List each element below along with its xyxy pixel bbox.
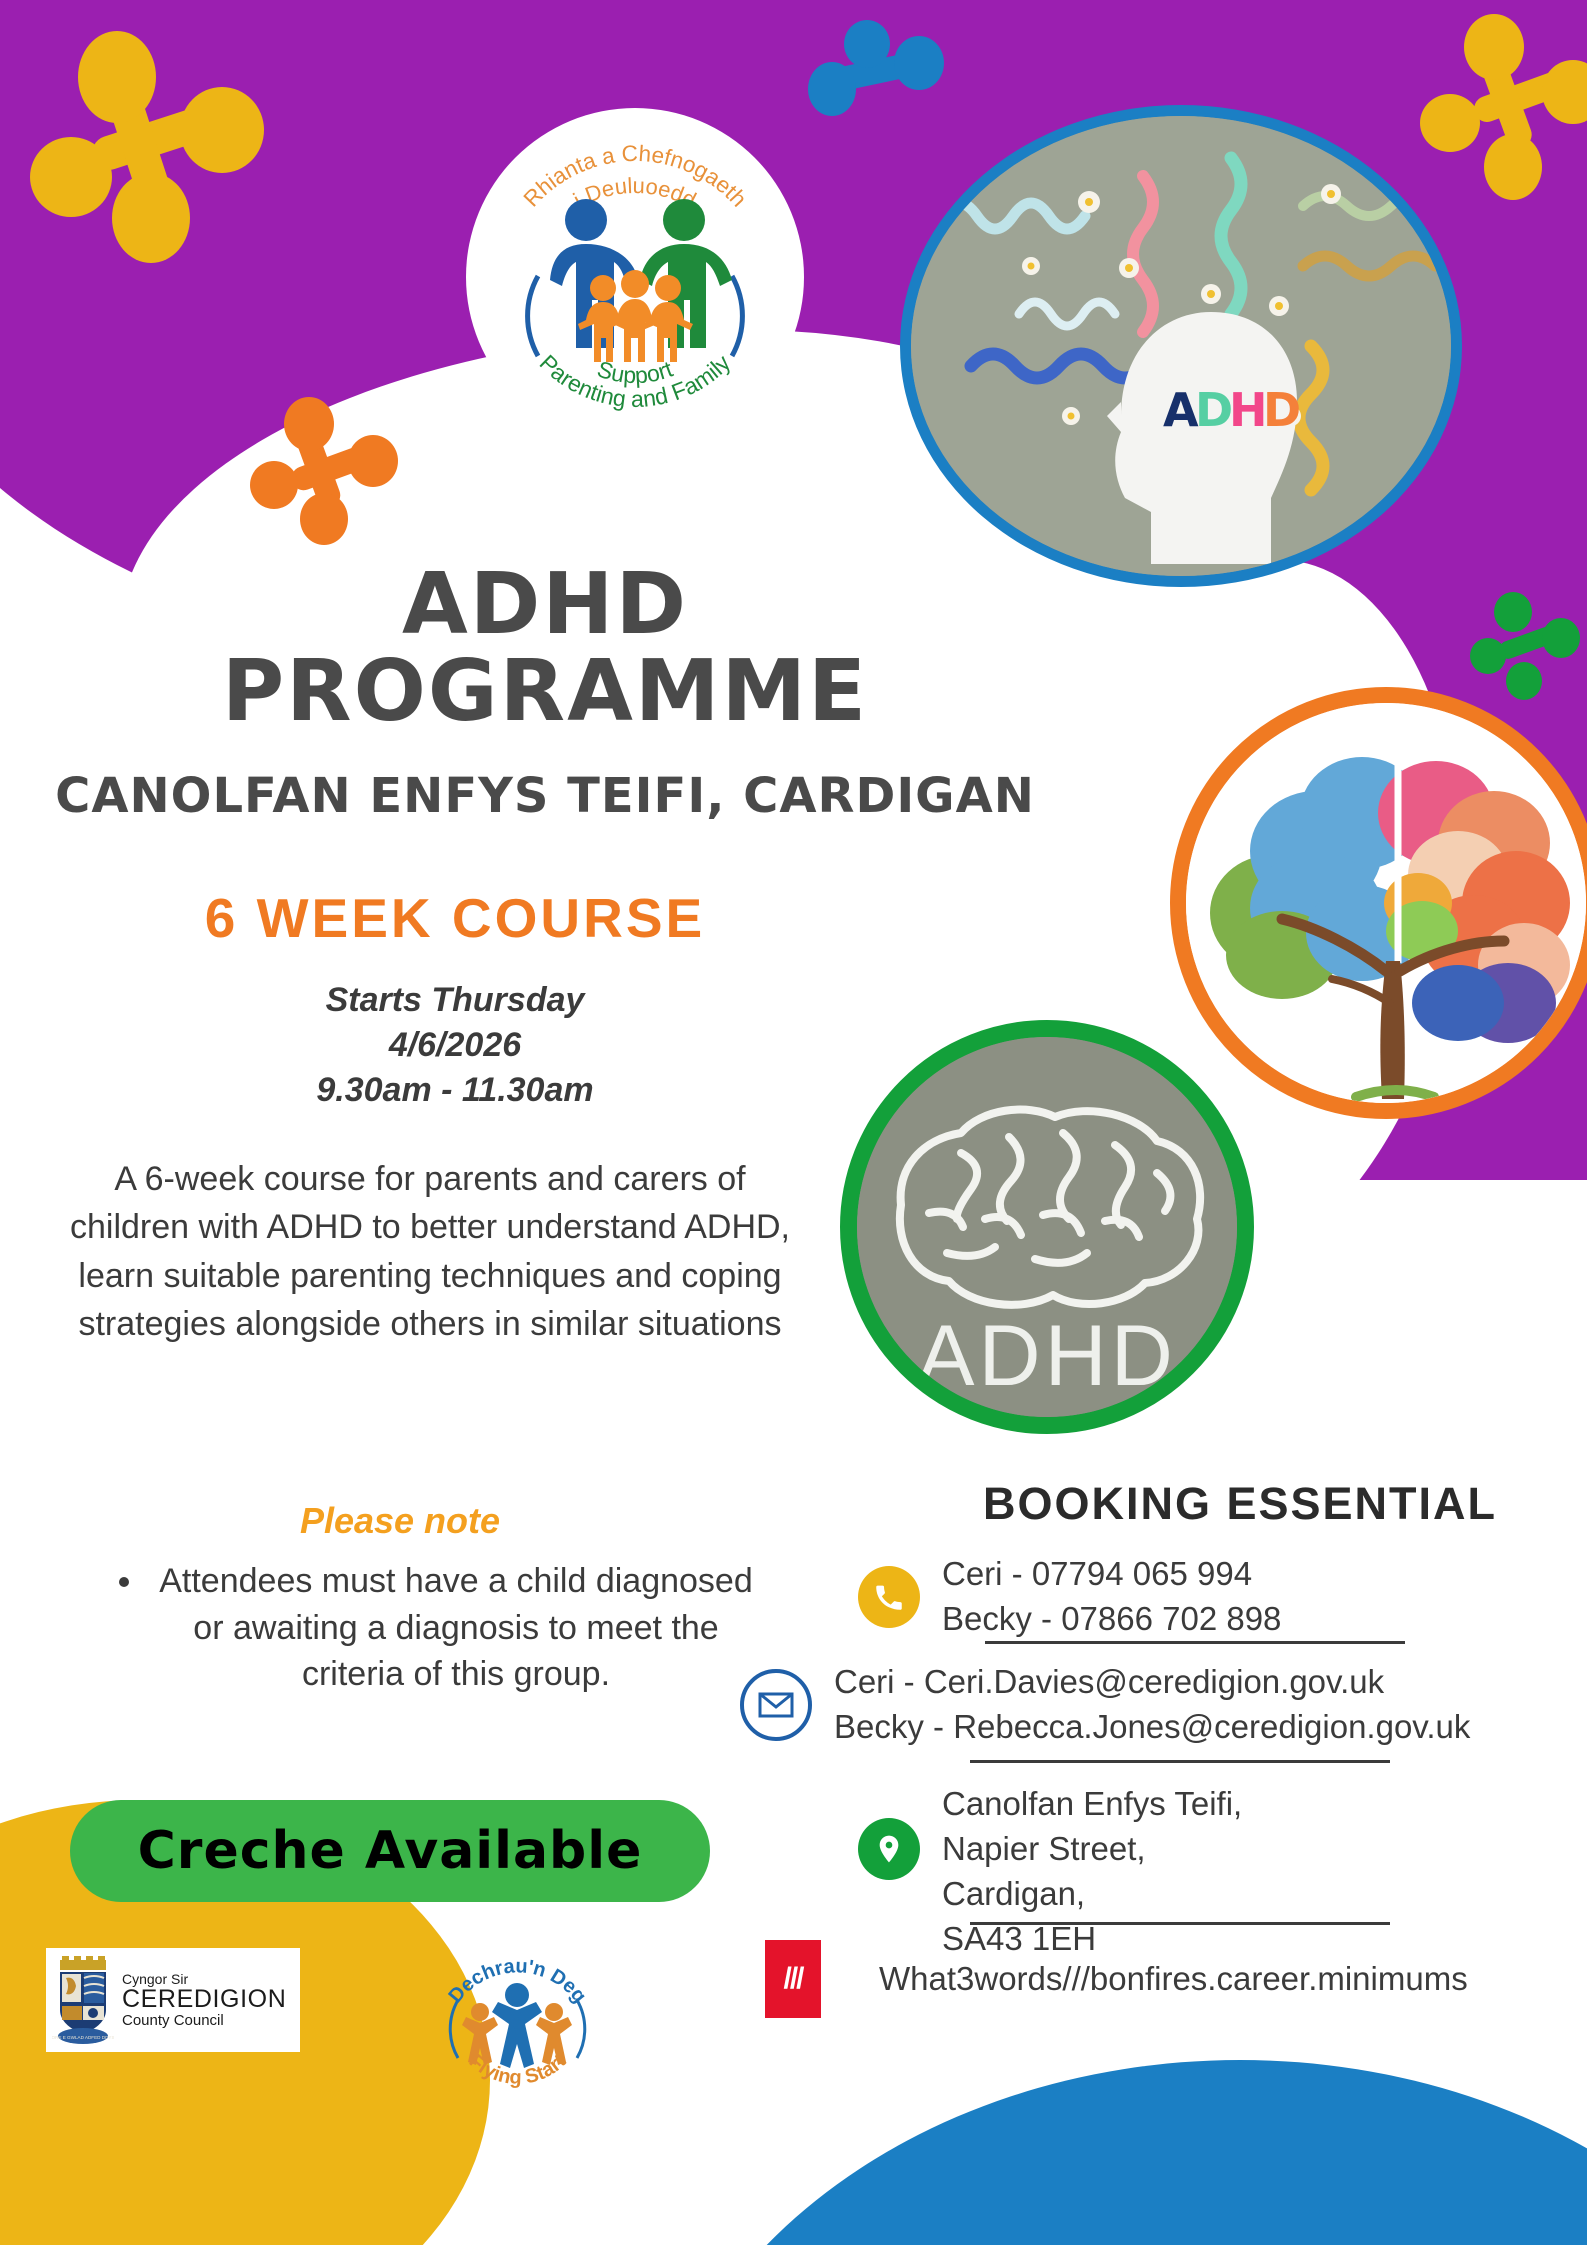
creche-available-badge: Creche Available — [70, 1800, 710, 1902]
address-line-1: Canolfan Enfys Teifi, — [942, 1782, 1242, 1827]
booking-essential-heading: BOOKING ESSENTIAL — [930, 1478, 1550, 1530]
flying-start-english: Flying Start — [465, 2050, 571, 2089]
venue-address: Canolfan Enfys Teifi, Napier Street, Car… — [942, 1782, 1242, 1962]
ceredigion-county-council-logo: GORE E GWLAD ADFED DDYSG Cyngor Sir CERE… — [46, 1948, 300, 2052]
start-day-label: Starts Thursday — [60, 978, 850, 1023]
svg-text:H: H — [1229, 383, 1268, 437]
molecule-icon-orange — [250, 395, 400, 545]
phone-icon — [858, 1566, 920, 1628]
flying-start-logo: Dechrau'n Deg Flying Start — [430, 1940, 605, 2115]
adhd-programme-poster: Rhianta a Chefnogaeth i Deuluoedd Parent… — [0, 0, 1587, 2245]
email-addresses: Ceri - Ceri.Davies@ceredigion.gov.uk Bec… — [834, 1660, 1470, 1750]
email-ceri: Ceri - Ceri.Davies@ceredigion.gov.uk — [834, 1660, 1470, 1705]
svg-text:ADHD: ADHD — [917, 1308, 1177, 1404]
council-logo-text: Cyngor Sir CEREDIGION County Council — [122, 1972, 286, 2029]
brain-tree-artwork — [1186, 703, 1586, 1103]
molecule-icon-yellow-right — [1420, 10, 1587, 200]
booking-phone-row: Ceri - 07794 065 994 Becky - 07866 702 8… — [858, 1552, 1281, 1642]
booking-address-row: Canolfan Enfys Teifi, Napier Street, Car… — [858, 1782, 1242, 1962]
molecule-icon-green — [1470, 590, 1580, 700]
svg-text:A: A — [1163, 383, 1199, 437]
start-date: 4/6/2026 — [60, 1023, 850, 1068]
what3words-address: What3words///bonfires.career.minimums — [879, 1957, 1468, 2002]
svg-text:GORE E GWLAD ADFED DDYSG: GORE E GWLAD ADFED DDYSG — [52, 2035, 114, 2040]
title-line-1: ADHD — [55, 562, 1035, 649]
phone-glyph — [872, 1580, 906, 1614]
venue-subtitle: CANOLFAN ENFYS TEIFI, CARDIGAN — [55, 768, 1035, 824]
list-item: Attendees must have a child diagnosed or… — [146, 1558, 766, 1698]
council-line-1: Cyngor Sir — [122, 1972, 286, 1987]
adhd-chalk-photo: ADHD — [840, 1020, 1254, 1434]
please-note-heading: Please note — [110, 1500, 690, 1542]
booking-what3words-row: /// What3words///bonfires.career.minimum… — [765, 1940, 1468, 2018]
svg-text:D: D — [1195, 383, 1233, 437]
adhd-head-photo: A D H D — [900, 105, 1462, 587]
divider-after-phone — [985, 1641, 1405, 1644]
page-title: ADHD PROGRAMME — [55, 562, 1035, 735]
booking-email-row: Ceri - Ceri.Davies@ceredigion.gov.uk Bec… — [740, 1660, 1470, 1750]
envelope-glyph — [758, 1692, 794, 1718]
map-pin-icon — [858, 1818, 920, 1880]
brain-tree-photo — [1170, 687, 1587, 1119]
what3words-icon: /// — [765, 1940, 821, 2018]
council-line-3: County Council — [122, 2013, 286, 2029]
course-length-heading: 6 WEEK COURSE — [60, 886, 850, 950]
email-becky: Becky - Rebecca.Jones@ceredigion.gov.uk — [834, 1705, 1470, 1750]
start-time: 9.30am - 11.30am — [60, 1068, 850, 1113]
phone-numbers: Ceri - 07794 065 994 Becky - 07866 702 8… — [942, 1552, 1281, 1642]
map-pin-glyph — [873, 1833, 905, 1865]
adhd-head-photo-artwork: A D H D — [911, 116, 1451, 576]
council-line-2: CEREDIGION — [122, 1986, 286, 2012]
notes-list: Attendees must have a child diagnosed or… — [110, 1558, 766, 1698]
divider-after-address — [970, 1922, 1390, 1925]
course-description: A 6-week course for parents and carers o… — [60, 1155, 800, 1348]
ceredigion-crest-icon: GORE E GWLAD ADFED DDYSG — [52, 1954, 114, 2046]
molecule-icon-blue — [806, 14, 946, 129]
adhd-chalk-artwork: ADHD — [857, 1037, 1237, 1417]
svg-text:Flying Start: Flying Start — [465, 2050, 571, 2089]
course-schedule: Starts Thursday 4/6/2026 9.30am - 11.30a… — [60, 978, 850, 1113]
molecule-icon-yellow-large — [30, 25, 270, 260]
envelope-icon — [740, 1669, 812, 1741]
parenting-family-support-logo: Rhianta a Chefnogaeth i Deuluoedd Parent… — [466, 108, 804, 446]
logo-family-figures — [518, 196, 752, 364]
phone-ceri: Ceri - 07794 065 994 — [942, 1552, 1281, 1597]
address-line-2: Napier Street, — [942, 1827, 1242, 1872]
phone-becky: Becky - 07866 702 898 — [942, 1597, 1281, 1642]
title-line-2: PROGRAMME — [55, 649, 1035, 736]
blue-corner-shape — [640, 2060, 1587, 2245]
svg-text:D: D — [1263, 383, 1301, 437]
address-line-3: Cardigan, — [942, 1872, 1242, 1917]
divider-after-email — [970, 1760, 1390, 1763]
